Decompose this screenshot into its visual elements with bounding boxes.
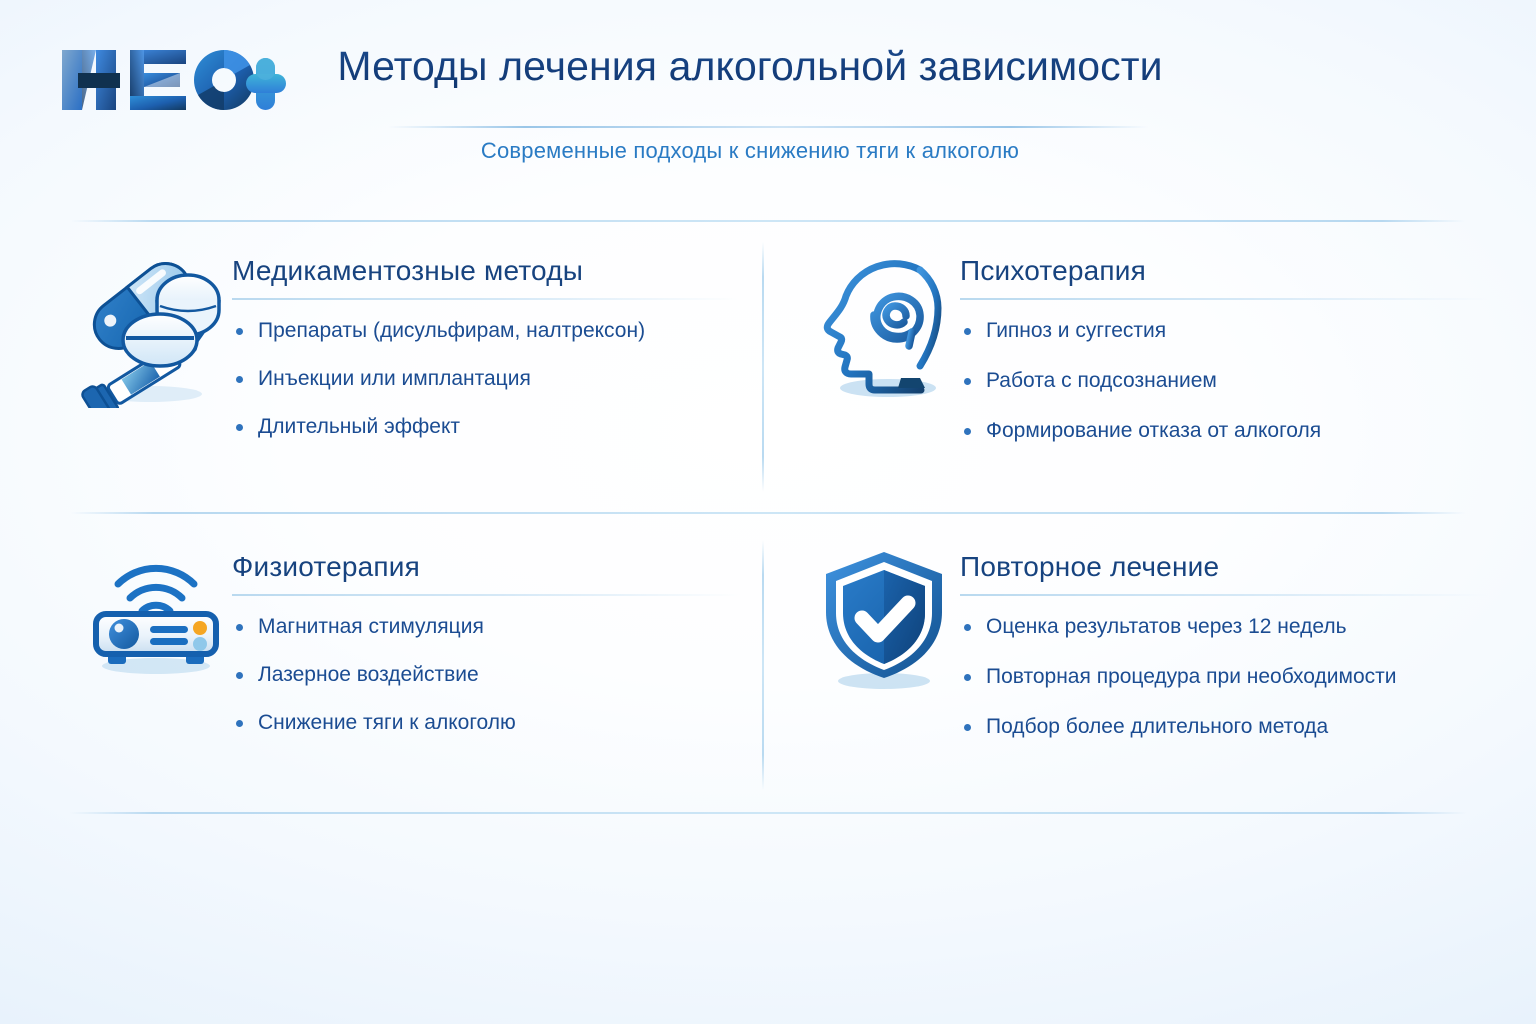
- list-item: Работа с подсознанием: [960, 368, 1488, 394]
- page-title: Методы лечения алкогольной зависимости: [300, 44, 1200, 90]
- bullet-dot-icon: [236, 376, 243, 383]
- list-item-label: Формирование отказа от алкоголя: [986, 419, 1321, 442]
- infographic-poster: Методы лечения алкогольной зависимости С…: [0, 0, 1536, 1024]
- list-item-label: Работа с подсознанием: [986, 369, 1217, 392]
- head-spiral-hypnosis-icon: [808, 248, 960, 408]
- list-item-label: Гипноз и суггестия: [986, 319, 1166, 342]
- bullet-dot-icon: [236, 720, 243, 727]
- bullet-dot-icon: [964, 674, 971, 681]
- bullet-dot-icon: [964, 624, 971, 631]
- card-title: Физиотерапия: [232, 550, 740, 584]
- list-item-label: Инъекции или имплантация: [258, 367, 531, 390]
- bullet-dot-icon: [964, 328, 971, 335]
- bullet-dot-icon: [964, 378, 971, 385]
- bullet-list: Гипноз и суггестия Работа с подсознанием…: [960, 300, 1488, 445]
- bullet-list: Магнитная стимуляция Лазерное воздействи…: [232, 596, 740, 737]
- card-medication: Медикаментозные методы Препараты (дисуль…: [80, 248, 740, 440]
- list-item: Повторная процедура при необходимости: [960, 664, 1488, 690]
- card-body: Повторное лечение Оценка результатов чер…: [960, 544, 1488, 764]
- card-body: Физиотерапия Магнитная стимуляция Лазерн…: [232, 544, 740, 736]
- card-body: Психотерапия Гипноз и суггестия Работа с…: [960, 248, 1488, 468]
- card-psychotherapy: Психотерапия Гипноз и суггестия Работа с…: [808, 248, 1488, 468]
- card-title: Повторное лечение: [960, 550, 1488, 584]
- bullet-dot-icon: [236, 424, 243, 431]
- list-item-label: Длительный эффект: [258, 415, 460, 438]
- grid-divider-bottom: [70, 812, 1466, 814]
- bullet-dot-icon: [964, 428, 971, 435]
- card-repeat-treatment: Повторное лечение Оценка результатов чер…: [808, 544, 1488, 764]
- title-divider: [388, 126, 1148, 128]
- list-item: Инъекции или имплантация: [232, 366, 740, 392]
- list-item-label: Магнитная стимуляция: [258, 615, 484, 638]
- card-physiotherapy: Физиотерапия Магнитная стимуляция Лазерн…: [80, 544, 740, 736]
- list-item: Длительный эффект: [232, 414, 740, 440]
- list-item-label: Подбор более длительного метода: [986, 715, 1328, 738]
- list-item-label: Лазерное воздействие: [258, 663, 479, 686]
- card-title: Медикаментозные методы: [232, 254, 740, 288]
- list-item: Гипноз и суггестия: [960, 318, 1488, 344]
- physio-device-waves-icon: [80, 544, 232, 674]
- list-item-label: Снижение тяги к алкоголю: [258, 711, 516, 734]
- list-item: Препараты (дисульфирам, налтрексон): [232, 318, 740, 344]
- grid-divider-top: [70, 220, 1466, 222]
- bullet-dot-icon: [964, 724, 971, 731]
- bullet-dot-icon: [236, 328, 243, 335]
- card-body: Медикаментозные методы Препараты (дисуль…: [232, 248, 740, 440]
- header: Методы лечения алкогольной зависимости С…: [0, 0, 1536, 200]
- list-item: Магнитная стимуляция: [232, 614, 740, 640]
- list-item: Оценка результатов через 12 недель: [960, 614, 1488, 640]
- list-item: Подбор более длительного метода: [960, 714, 1488, 740]
- list-item-label: Оценка результатов через 12 недель: [986, 615, 1347, 638]
- grid-divider-middle: [70, 512, 1466, 514]
- shield-check-icon: [808, 544, 960, 704]
- bullet-list: Оценка результатов через 12 недель Повто…: [960, 596, 1488, 741]
- page-subtitle: Современные подходы к снижению тяги к ал…: [300, 138, 1200, 164]
- bullet-dot-icon: [236, 624, 243, 631]
- list-item: Снижение тяги к алкоголю: [232, 710, 740, 736]
- bullet-list: Препараты (дисульфирам, налтрексон) Инъе…: [232, 300, 740, 441]
- list-item-label: Повторная процедура при необходимости: [986, 665, 1396, 688]
- pills-syringe-icon: [80, 248, 232, 408]
- grid-divider-vertical-upper: [762, 242, 764, 492]
- list-item-label: Препараты (дисульфирам, налтрексон): [258, 319, 645, 342]
- list-item: Лазерное воздействие: [232, 662, 740, 688]
- neo-plus-logo: [56, 40, 288, 120]
- card-title: Психотерапия: [960, 254, 1488, 288]
- grid-divider-vertical-lower: [762, 540, 764, 790]
- list-item: Формирование отказа от алкоголя: [960, 418, 1488, 444]
- bullet-dot-icon: [236, 672, 243, 679]
